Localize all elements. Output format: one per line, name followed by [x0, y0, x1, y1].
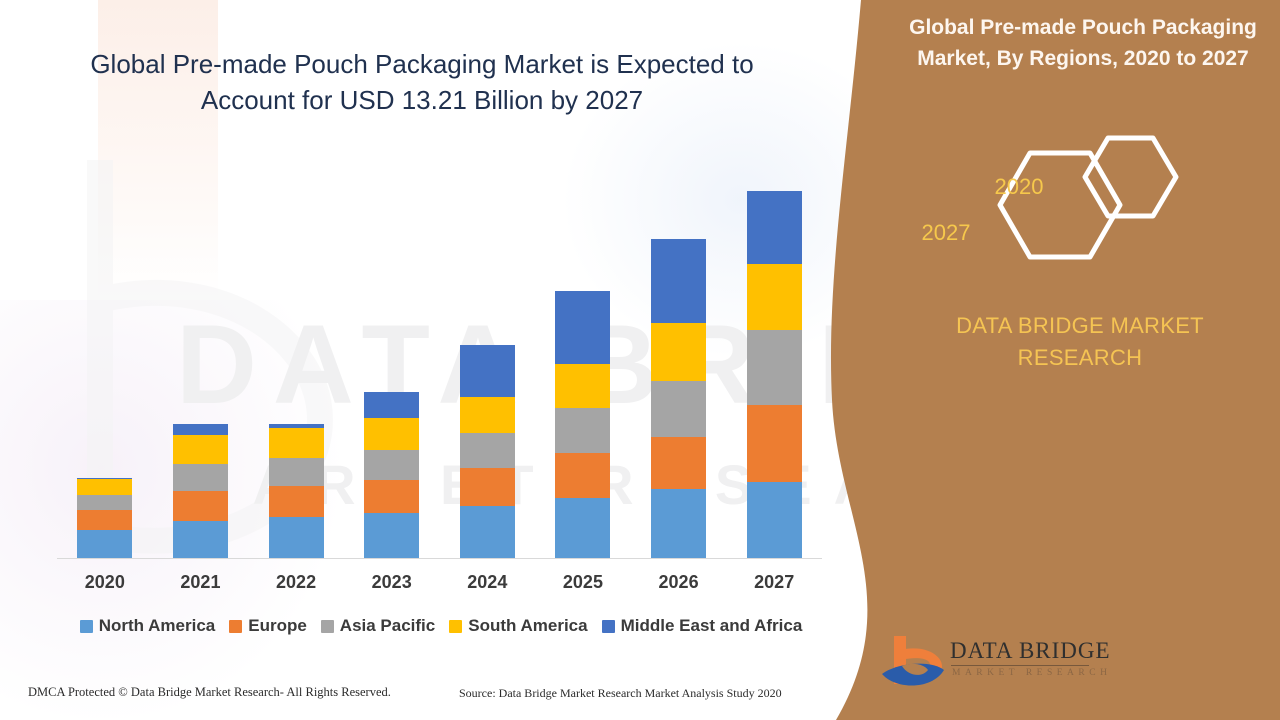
bar-segment [77, 510, 132, 530]
legend-label: Asia Pacific [340, 616, 435, 636]
bar-segment [651, 489, 706, 558]
bar-segment [364, 450, 419, 480]
logo-name: DATA BRIDGE [950, 638, 1111, 664]
bar-segment [364, 392, 419, 418]
bar-segment [364, 418, 419, 450]
bar-segment [555, 498, 610, 558]
bar-segment [77, 479, 132, 495]
chart-x-axis-labels: 20202021202220232024202520262027 [57, 572, 822, 593]
bar-segment [269, 486, 324, 517]
brand-panel: Global Pre-made Pouch Packaging Market, … [880, 0, 1280, 720]
footer-copyright: DMCA Protected © Data Bridge Market Rese… [28, 685, 391, 700]
bar-segment [460, 468, 515, 506]
bar-group [726, 160, 822, 558]
bar-segment [173, 491, 228, 521]
bar-segment [173, 424, 228, 435]
page-title: Global Pre-made Pouch Packaging Market i… [60, 46, 784, 118]
hexagon-2020-shape [1085, 138, 1176, 216]
stacked-bar [269, 424, 324, 558]
bar-group [631, 160, 727, 558]
bar-segment [555, 408, 610, 453]
logo-tagline: MARKET RESEARCH [952, 668, 1111, 678]
legend-swatch-icon [449, 620, 462, 633]
bar-segment [269, 428, 324, 458]
chart-axis-line [57, 558, 822, 559]
bar-segment [364, 480, 419, 513]
chart-legend: North AmericaEuropeAsia PacificSouth Ame… [57, 616, 825, 636]
legend-swatch-icon [321, 620, 334, 633]
bar-segment [747, 330, 802, 405]
stacked-bar [555, 291, 610, 558]
stacked-bar-chart [57, 160, 822, 559]
x-axis-label: 2020 [57, 572, 153, 593]
bar-group [57, 160, 153, 558]
bar-segment [747, 264, 802, 331]
bar-group [344, 160, 440, 558]
stacked-bar [747, 191, 802, 558]
stacked-bar [651, 239, 706, 558]
hexagon-outlines-icon [975, 135, 1185, 290]
legend-label: Middle East and Africa [621, 616, 803, 636]
bar-segment [77, 530, 132, 558]
bar-segment [173, 521, 228, 558]
stacked-bar [460, 345, 515, 558]
stacked-bar [364, 392, 419, 558]
bar-segment [555, 291, 610, 364]
bar-segment [747, 405, 802, 482]
legend-label: South America [468, 616, 587, 636]
bar-segment [173, 435, 228, 464]
x-axis-label: 2027 [726, 572, 822, 593]
bar-group [440, 160, 536, 558]
chart-bars [57, 160, 822, 558]
bar-segment [269, 458, 324, 486]
bar-segment [460, 506, 515, 558]
stacked-bar [173, 424, 228, 558]
brand-name: DATA BRIDGE MARKET RESEARCH [895, 310, 1265, 374]
hexagon-label-2027: 2027 [906, 220, 986, 246]
bar-segment [651, 239, 706, 323]
bar-segment [173, 464, 228, 491]
bar-segment [747, 191, 802, 264]
legend-item[interactable]: Europe [229, 616, 307, 636]
infographic-page: DATA BRIDGE MARKET RESEARCH Global Pre-m… [0, 0, 1280, 720]
bar-segment [460, 433, 515, 468]
panel-title: Global Pre-made Pouch Packaging Market, … [888, 12, 1278, 74]
legend-label: North America [99, 616, 216, 636]
logo-divider [951, 665, 1089, 666]
bar-segment [651, 323, 706, 381]
x-axis-label: 2023 [344, 572, 440, 593]
legend-swatch-icon [602, 620, 615, 633]
legend-swatch-icon [80, 620, 93, 633]
bar-segment [364, 513, 419, 558]
hexagon-label-2020: 2020 [984, 174, 1054, 200]
bar-segment [460, 397, 515, 433]
bar-segment [269, 517, 324, 558]
bar-segment [747, 482, 802, 558]
footer-source: Source: Data Bridge Market Research Mark… [459, 686, 782, 701]
x-axis-label: 2024 [440, 572, 536, 593]
bar-segment [77, 495, 132, 510]
legend-item[interactable]: Middle East and Africa [602, 616, 803, 636]
bar-segment [651, 381, 706, 437]
bar-segment [555, 453, 610, 498]
bar-group [535, 160, 631, 558]
company-logo: DATA BRIDGE MARKET RESEARCH [880, 632, 1110, 698]
legend-label: Europe [248, 616, 307, 636]
legend-swatch-icon [229, 620, 242, 633]
legend-item[interactable]: South America [449, 616, 587, 636]
bar-segment [651, 437, 706, 489]
bar-segment [460, 345, 515, 397]
stacked-bar [77, 478, 132, 558]
bar-group [153, 160, 249, 558]
bar-segment [555, 364, 610, 408]
legend-item[interactable]: North America [80, 616, 216, 636]
year-hexagons [975, 135, 1185, 290]
x-axis-label: 2025 [535, 572, 631, 593]
legend-item[interactable]: Asia Pacific [321, 616, 435, 636]
x-axis-label: 2022 [248, 572, 344, 593]
x-axis-label: 2021 [153, 572, 249, 593]
bar-group [248, 160, 344, 558]
x-axis-label: 2026 [631, 572, 727, 593]
